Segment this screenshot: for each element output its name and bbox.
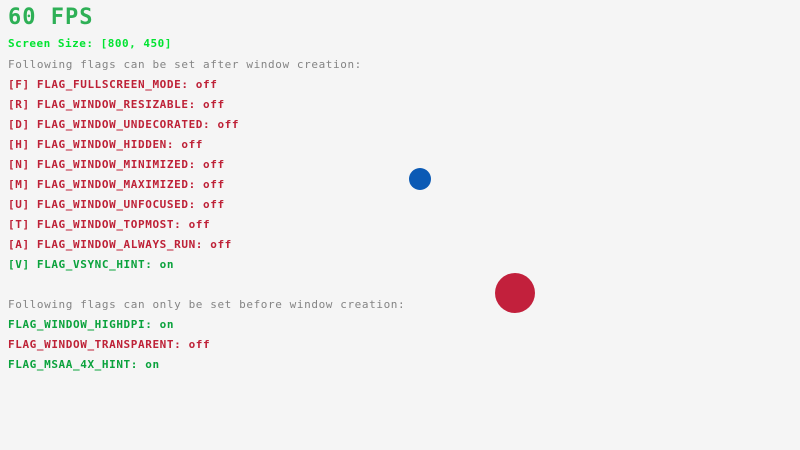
flag-value: off xyxy=(196,98,225,111)
flag-row-flag-window-unfocused[interactable]: [U] FLAG_WINDOW_UNFOCUSED: off xyxy=(8,198,225,211)
flag-label: FLAG_MSAA_4X_HINT: xyxy=(8,358,138,371)
flag-value: off xyxy=(181,338,210,351)
flag-value: on xyxy=(138,358,160,371)
flag-value: off xyxy=(196,158,225,171)
flag-label: [A] FLAG_WINDOW_ALWAYS_RUN: xyxy=(8,238,203,251)
flag-label: [V] FLAG_VSYNC_HINT: xyxy=(8,258,152,271)
flag-value: off xyxy=(210,118,239,131)
flag-row-flag-window-undecorated[interactable]: [D] FLAG_WINDOW_UNDECORATED: off xyxy=(8,118,239,131)
blue-ball xyxy=(409,168,431,190)
red-ball xyxy=(495,273,535,313)
flag-label: [T] FLAG_WINDOW_TOPMOST: xyxy=(8,218,181,231)
flag-value: off xyxy=(181,218,210,231)
flag-row-flag-msaa-4x-hint[interactable]: FLAG_MSAA_4X_HINT: on xyxy=(8,358,160,371)
flag-row-flag-fullscreen-mode[interactable]: [F] FLAG_FULLSCREEN_MODE: off xyxy=(8,78,217,91)
flag-label: [M] FLAG_WINDOW_MAXIMIZED: xyxy=(8,178,196,191)
flag-row-flag-window-transparent[interactable]: FLAG_WINDOW_TRANSPARENT: off xyxy=(8,338,210,351)
flag-label: [F] FLAG_FULLSCREEN_MODE: xyxy=(8,78,189,91)
section-header-after-creation: Following flags can be set after window … xyxy=(8,58,362,71)
screen-size-label: Screen Size: [800, 450] xyxy=(8,37,172,50)
flag-value: off xyxy=(174,138,203,151)
flag-row-flag-vsync-hint[interactable]: [V] FLAG_VSYNC_HINT: on xyxy=(8,258,174,271)
flag-row-flag-window-hidden[interactable]: [H] FLAG_WINDOW_HIDDEN: off xyxy=(8,138,203,151)
flag-label: [H] FLAG_WINDOW_HIDDEN: xyxy=(8,138,174,151)
flag-value: off xyxy=(196,198,225,211)
flag-row-flag-window-maximized[interactable]: [M] FLAG_WINDOW_MAXIMIZED: off xyxy=(8,178,225,191)
flag-row-flag-window-highdpi[interactable]: FLAG_WINDOW_HIGHDPI: on xyxy=(8,318,174,331)
fps-counter: 60 FPS xyxy=(8,6,93,30)
flag-value: on xyxy=(152,318,174,331)
flag-label: FLAG_WINDOW_HIGHDPI: xyxy=(8,318,152,331)
flag-value: on xyxy=(152,258,174,271)
raylib-window-canvas: 60 FPS Screen Size: [800, 450] Following… xyxy=(0,0,800,450)
flag-label: [D] FLAG_WINDOW_UNDECORATED: xyxy=(8,118,210,131)
section-header-before-creation: Following flags can only be set before w… xyxy=(8,298,405,311)
flag-value: off xyxy=(203,238,232,251)
flag-label: [R] FLAG_WINDOW_RESIZABLE: xyxy=(8,98,196,111)
flag-row-flag-window-always-run[interactable]: [A] FLAG_WINDOW_ALWAYS_RUN: off xyxy=(8,238,232,251)
flag-row-flag-window-minimized[interactable]: [N] FLAG_WINDOW_MINIMIZED: off xyxy=(8,158,225,171)
flag-label: [N] FLAG_WINDOW_MINIMIZED: xyxy=(8,158,196,171)
flag-label: FLAG_WINDOW_TRANSPARENT: xyxy=(8,338,181,351)
flag-label: [U] FLAG_WINDOW_UNFOCUSED: xyxy=(8,198,196,211)
flag-row-flag-window-resizable[interactable]: [R] FLAG_WINDOW_RESIZABLE: off xyxy=(8,98,225,111)
flag-row-flag-window-topmost[interactable]: [T] FLAG_WINDOW_TOPMOST: off xyxy=(8,218,210,231)
flag-value: off xyxy=(196,178,225,191)
flag-value: off xyxy=(189,78,218,91)
